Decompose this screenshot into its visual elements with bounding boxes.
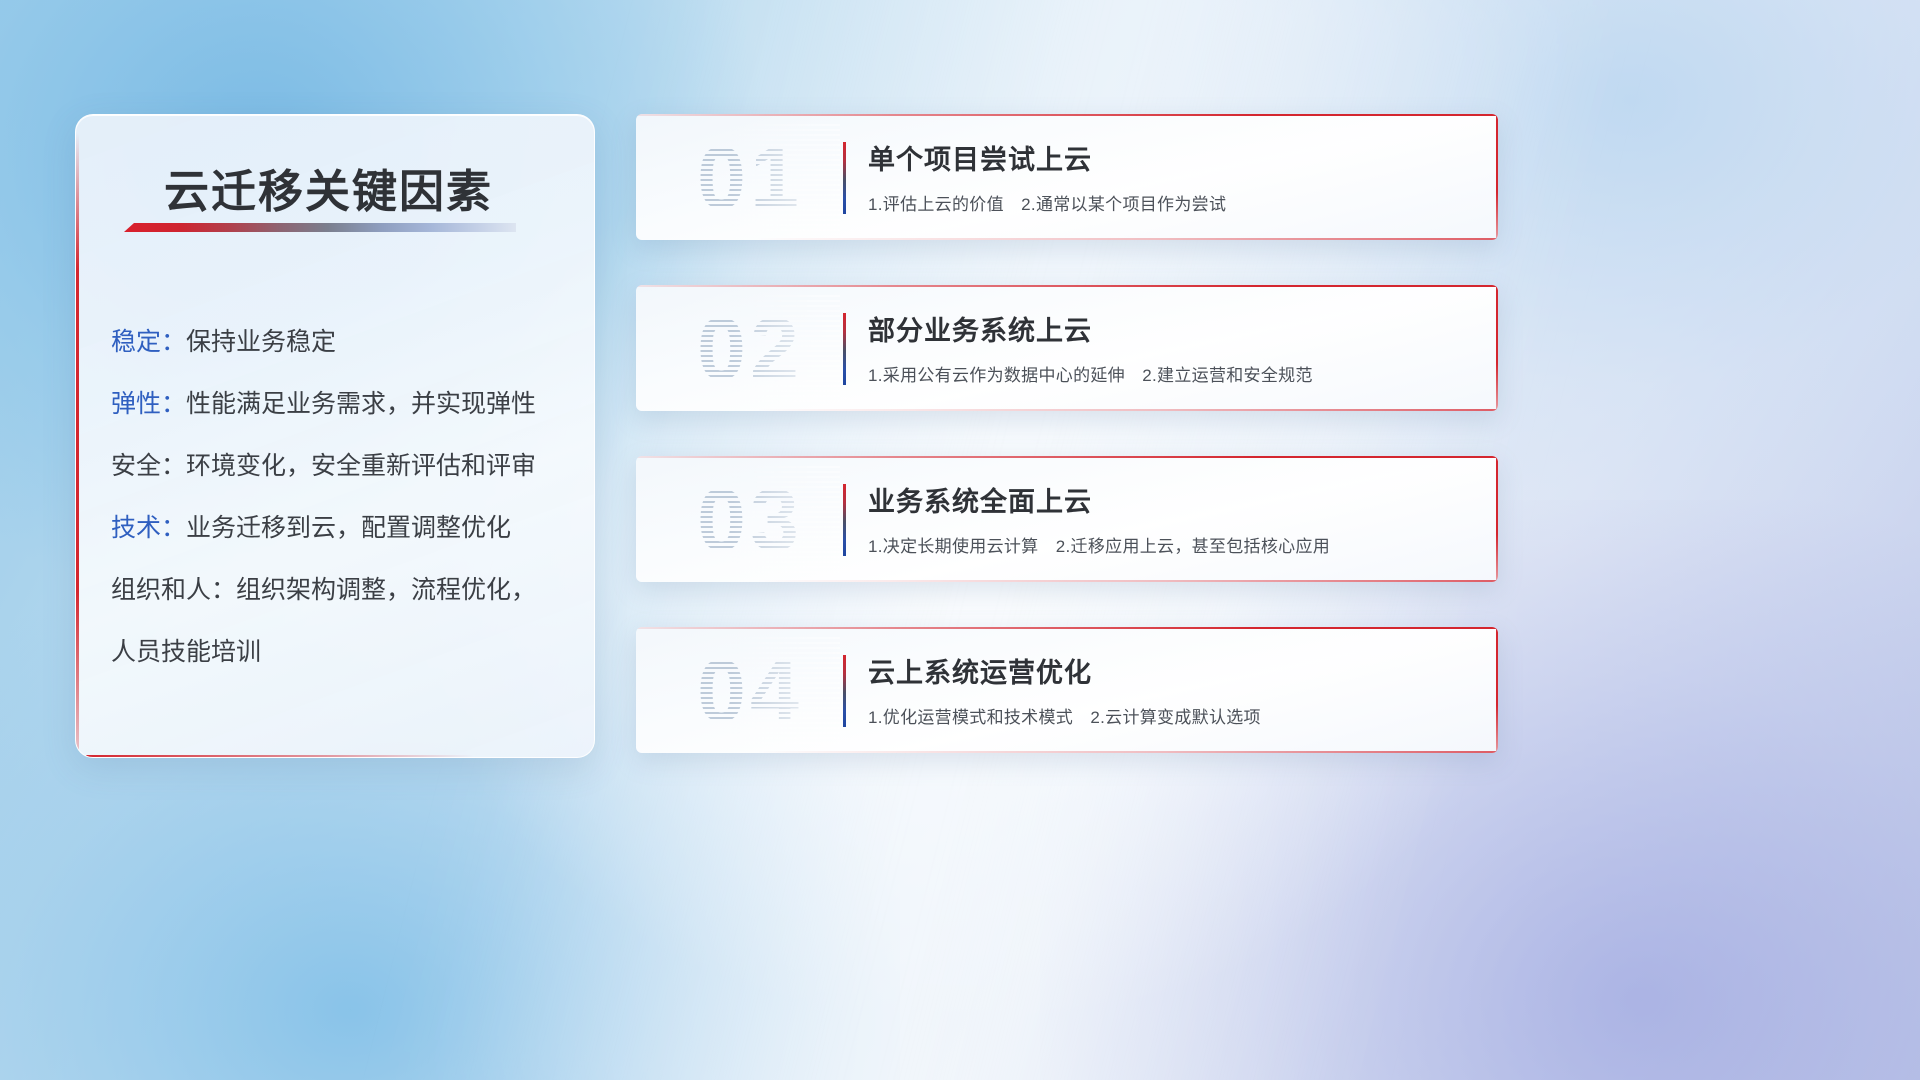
step-subtitle: 1.评估上云的价值 2.通常以某个项目作为尝试	[868, 190, 1480, 215]
step-subtitle: 1.决定长期使用云计算 2.迁移应用上云，甚至包括核心应用	[868, 532, 1480, 557]
step-card-04[interactable]: 04 云上系统运营优化 1.优化运营模式和技术模式 2.云计算变成默认选项	[636, 627, 1498, 753]
step-content: 云上系统运营优化 1.优化运营模式和技术模式 2.云计算变成默认选项	[868, 651, 1480, 728]
card-right-accent	[1496, 627, 1498, 753]
step-subtitle: 1.优化运营模式和技术模式 2.云计算变成默认选项	[868, 703, 1480, 728]
card-bottom-accent	[756, 409, 1498, 411]
step-content: 业务系统全面上云 1.决定长期使用云计算 2.迁移应用上云，甚至包括核心应用	[868, 480, 1480, 557]
card-bottom-accent	[756, 580, 1498, 582]
list-item: 组织和人：组织架构调整，流程优化，	[111, 559, 581, 621]
step-card-01[interactable]: 01 单个项目尝试上云 1.评估上云的价值 2.通常以某个项目作为尝试	[636, 114, 1498, 240]
list-item-key: 技术：	[111, 514, 186, 542]
list-item: 人员技能培训	[111, 621, 581, 683]
card-top-accent	[636, 285, 1498, 287]
card-right-accent	[1496, 456, 1498, 582]
list-item: 弹性：性能满足业务需求，并实现弹性	[111, 373, 581, 435]
card-right-accent	[1496, 285, 1498, 411]
card-top-accent	[636, 456, 1498, 458]
list-item-desc: 业务迁移到云，配置调整优化	[186, 514, 511, 542]
panel-title-underline	[124, 223, 516, 232]
list-item-key: 安全：	[111, 452, 186, 480]
step-card-03[interactable]: 03 业务系统全面上云 1.决定长期使用云计算 2.迁移应用上云，甚至包括核心应…	[636, 456, 1498, 582]
step-number-04: 04	[660, 637, 840, 745]
step-divider-line	[843, 313, 846, 385]
list-item: 稳定：保持业务稳定	[111, 311, 581, 373]
list-item-key: 稳定：	[111, 328, 186, 356]
card-top-accent	[636, 114, 1498, 116]
list-item-desc: 性能满足业务需求，并实现弹性	[186, 390, 536, 418]
list-item: 技术：业务迁移到云，配置调整优化	[111, 497, 581, 559]
step-number-01: 01	[660, 124, 840, 232]
panel-left-accent-bar	[76, 133, 79, 753]
step-content: 部分业务系统上云 1.采用公有云作为数据中心的延伸 2.建立运营和安全规范	[868, 309, 1480, 386]
card-top-accent	[636, 627, 1498, 629]
step-title: 单个项目尝试上云	[868, 138, 1480, 177]
card-bottom-accent	[756, 751, 1498, 753]
card-right-accent	[1496, 114, 1498, 240]
step-divider-line	[843, 655, 846, 727]
step-title: 云上系统运营优化	[868, 651, 1480, 690]
list-item-desc: 人员技能培训	[111, 638, 261, 666]
list-item-desc: 组织架构调整，流程优化，	[236, 576, 536, 604]
step-number-03: 03	[660, 466, 840, 574]
step-card-02[interactable]: 02 部分业务系统上云 1.采用公有云作为数据中心的延伸 2.建立运营和安全规范	[636, 285, 1498, 411]
card-bottom-accent	[756, 238, 1498, 240]
step-title: 部分业务系统上云	[868, 309, 1480, 348]
step-content: 单个项目尝试上云 1.评估上云的价值 2.通常以某个项目作为尝试	[868, 138, 1480, 215]
list-item: 安全：环境变化，安全重新评估和评审	[111, 435, 581, 497]
list-item-desc: 保持业务稳定	[186, 328, 336, 356]
step-number-02: 02	[660, 295, 840, 403]
list-item-key: 组织和人：	[111, 576, 236, 604]
step-divider-line	[843, 484, 846, 556]
list-item-key: 弹性：	[111, 390, 186, 418]
key-factors-panel: 云迁移关键因素 稳定：保持业务稳定 弹性：性能满足业务需求，并实现弹性 安全：环…	[75, 114, 595, 758]
panel-bottom-accent-bar	[86, 755, 474, 758]
slide-canvas: 云迁移关键因素 稳定：保持业务稳定 弹性：性能满足业务需求，并实现弹性 安全：环…	[0, 0, 1920, 1080]
step-title: 业务系统全面上云	[868, 480, 1480, 519]
step-subtitle: 1.采用公有云作为数据中心的延伸 2.建立运营和安全规范	[868, 361, 1480, 386]
step-divider-line	[843, 142, 846, 214]
key-factors-list: 稳定：保持业务稳定 弹性：性能满足业务需求，并实现弹性 安全：环境变化，安全重新…	[111, 311, 581, 683]
list-item-desc: 环境变化，安全重新评估和评审	[186, 452, 536, 480]
panel-title: 云迁移关键因素	[164, 155, 493, 220]
